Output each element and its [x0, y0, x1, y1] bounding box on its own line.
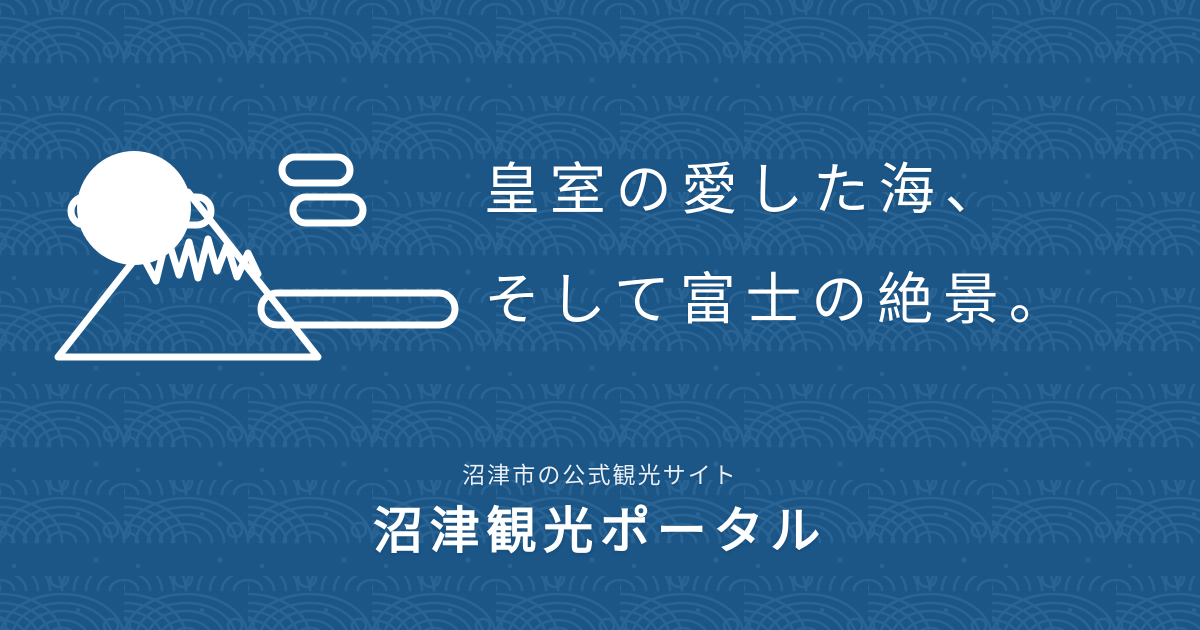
headline-line-1: 皇室の愛した海、 [484, 162, 1075, 218]
og-card: 皇室の愛した海、 そして富士の絶景。 沼津市の公式観光サイト 沼津観光ポータル [0, 0, 1200, 630]
cloud-pill-mid-right [293, 197, 363, 223]
cloud-pill-top-right [282, 157, 350, 183]
headline: 皇室の愛した海、 そして富士の絶景。 [484, 162, 1075, 328]
headline-line-2: そして富士の絶景。 [484, 272, 1075, 328]
site-title: 沼津観光ポータル [0, 504, 1200, 559]
site-subtitle: 沼津市の公式観光サイト [0, 462, 1200, 490]
footer-lockup: 沼津市の公式観光サイト 沼津観光ポータル [0, 462, 1200, 559]
mount-fuji-sun-clouds-logo [45, 135, 470, 375]
